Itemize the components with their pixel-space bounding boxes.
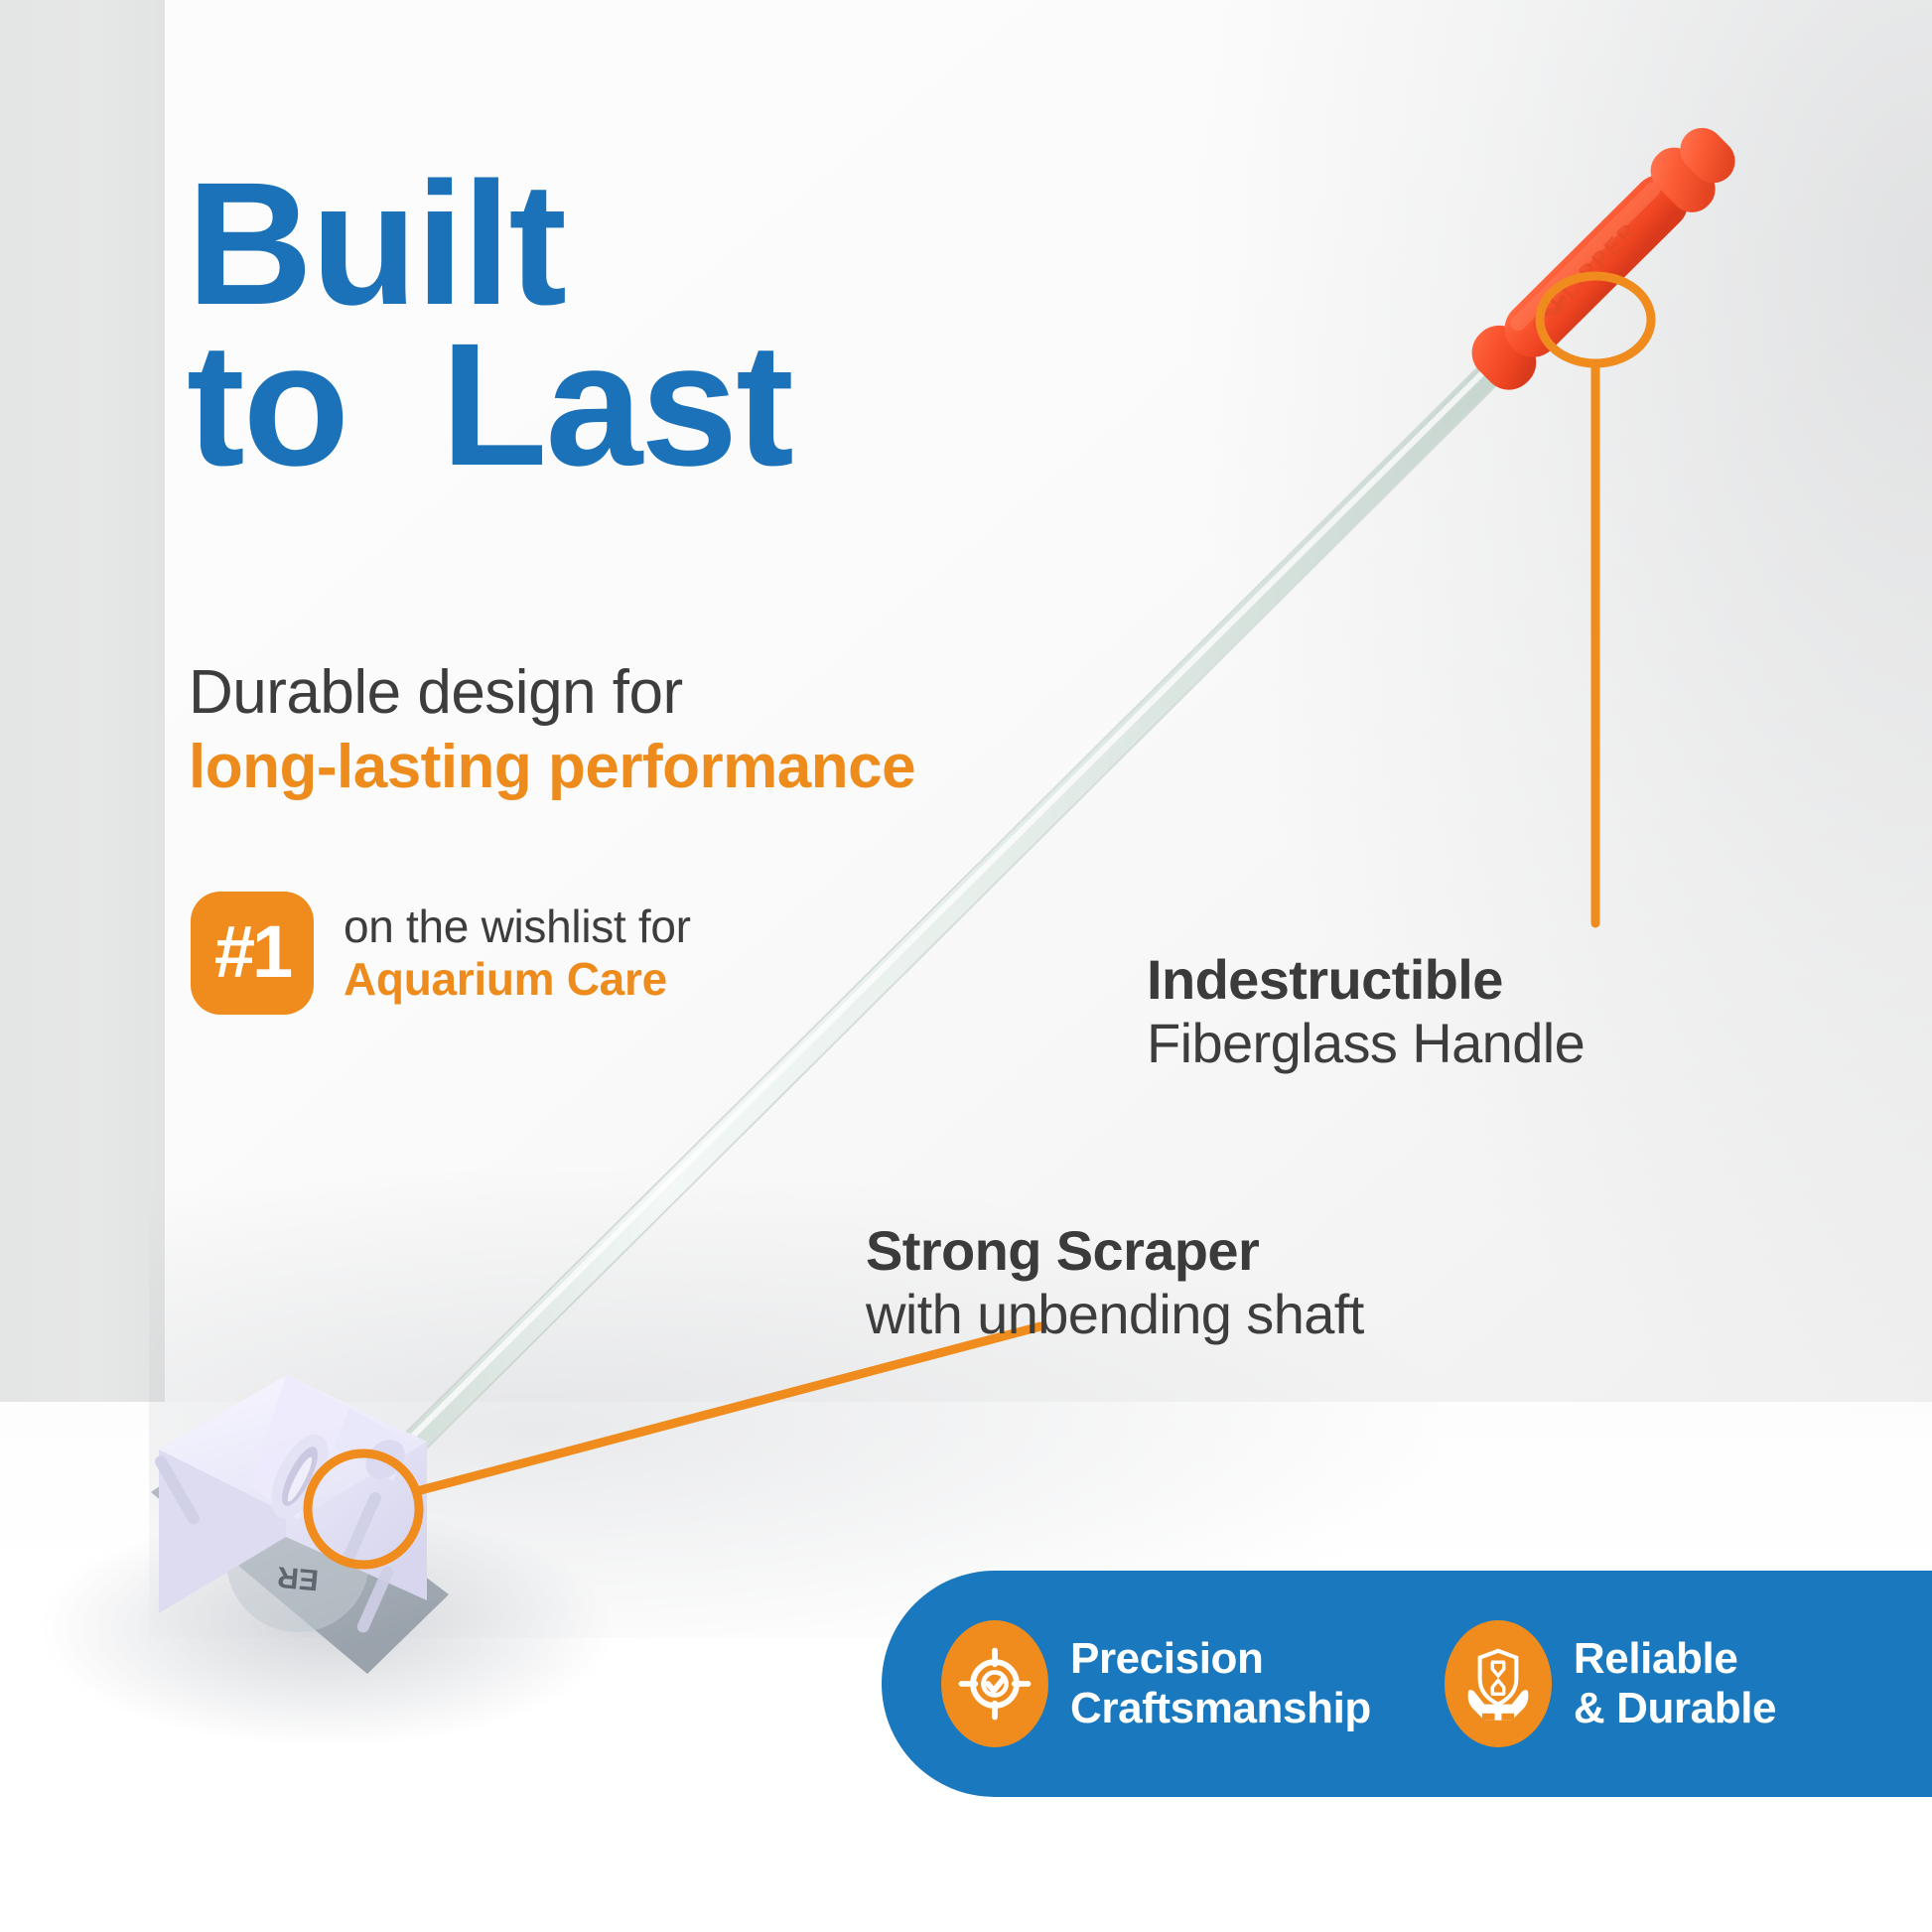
shield-hourglass-hands-glyph <box>1461 1645 1535 1723</box>
headline-line-2: to Last <box>187 308 792 502</box>
hands-holding-shield-hourglass-icon <box>1445 1620 1552 1747</box>
callout-handle-subtitle: Fiberglass Handle <box>1147 1012 1585 1075</box>
feature-banner: Precision Craftsmanship Reliable & Durab… <box>882 1571 1932 1797</box>
callout-handle-title: Indestructible <box>1147 948 1585 1012</box>
callout-handle: Indestructible Fiberglass Handle <box>1147 948 1585 1075</box>
rank-badge-line-1: on the wishlist for <box>344 900 691 953</box>
page-title: Builtto Last <box>187 165 1179 486</box>
callout-scraper-subtitle: with unbending shaft <box>866 1283 1364 1346</box>
callout-scraper: Strong Scraper with unbending shaft <box>866 1219 1364 1346</box>
rank-badge: #1 on the wishlist for Aquarium Care <box>191 892 691 1015</box>
rank-badge-text: on the wishlist for Aquarium Care <box>344 900 691 1007</box>
feature-reliable-durable: Reliable & Durable <box>1445 1620 1776 1747</box>
callout-scraper-title: Strong Scraper <box>866 1219 1364 1283</box>
feature-precision-craftsmanship: Precision Craftsmanship <box>941 1620 1371 1747</box>
feature-reliable-label: Reliable & Durable <box>1574 1634 1776 1733</box>
subheading-normal: Durable design for <box>189 655 683 731</box>
infographic-canvas: Builtto Last Durable design for long-las… <box>0 0 1932 1932</box>
subheading-emphasis: long-lasting performance <box>189 730 915 805</box>
feature-precision-label: Precision Craftsmanship <box>1070 1634 1371 1733</box>
target-check-glyph <box>958 1647 1032 1721</box>
rank-badge-line-2: Aquarium Care <box>344 953 691 1006</box>
precision-target-check-icon <box>941 1620 1048 1747</box>
rank-badge-number: #1 <box>191 892 314 1015</box>
